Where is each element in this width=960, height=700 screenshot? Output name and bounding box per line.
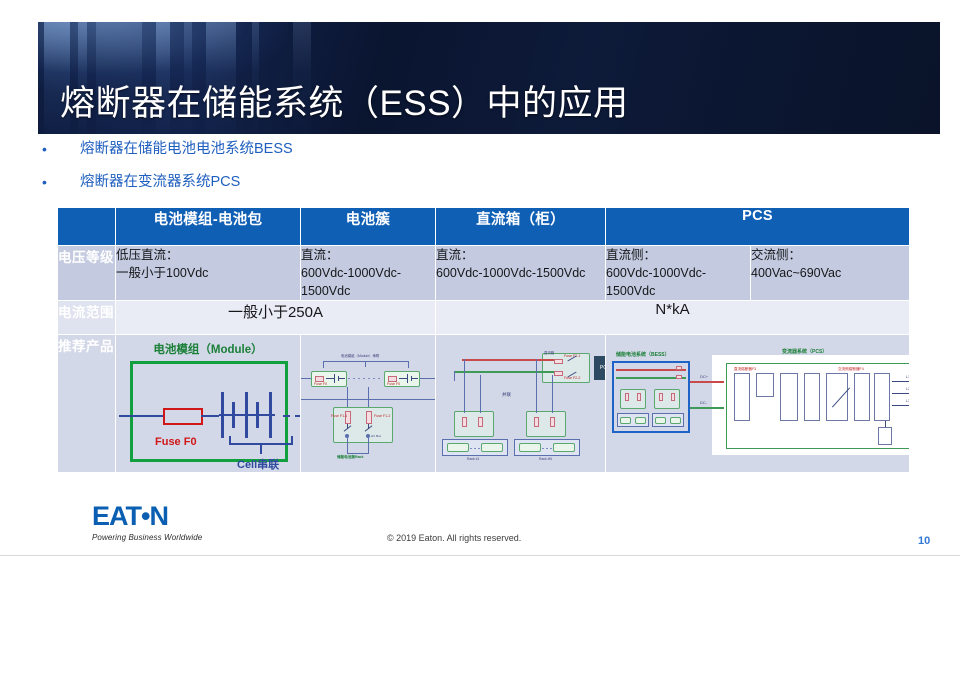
rack-module-box [447, 443, 469, 452]
table-header-row: 电池模组-电池包 电池簇 直流箱（柜） PCS [58, 208, 910, 246]
hv-box-frame [333, 407, 393, 443]
rack-group-1 [454, 411, 494, 437]
rack-riser [480, 375, 481, 413]
eaton-wordmark: EAT•N [92, 503, 232, 530]
cluster-dashed-link [348, 378, 383, 379]
rack-riser [464, 359, 465, 383]
bess-module [620, 417, 631, 424]
dc-plus-label: DC+ [700, 374, 708, 379]
bess-title-label: 储能电池系统（BESS） [616, 351, 670, 358]
pcs-ground-stem [885, 421, 886, 427]
pcs-boundary-dash [726, 363, 729, 449]
diagram-module-title: 电池模组（Module） [153, 341, 262, 357]
diagram-pcs-system: 储能电池系统（BESS） 变流器系统（PCS） [606, 335, 910, 473]
ac-line-l3 [892, 405, 910, 406]
cell-current-power: N*kA [436, 301, 910, 335]
pcs-title-label: 变流器系统（PCS） [782, 348, 827, 355]
slide-canvas: 熔断器在储能系统（ESS）中的应用 • 熔断器在储能电池电池系统BESS • 熔… [0, 0, 960, 700]
cluster-fuse-label: Fuse F0 [387, 382, 400, 386]
cell-voltage-dcbox: 直流：600Vdc-1000Vdc-1500Vdc [436, 246, 606, 301]
fuse-f1-1-label: Fuse F1-1 [331, 414, 347, 418]
title-banner: 熔断器在储能系统（ESS）中的应用 [38, 22, 940, 134]
table-row: 电压等级 低压直流：一般小于100Vdc 直流：600Vdc-1000Vdc-1… [58, 246, 910, 301]
dc-negative-bus [454, 371, 554, 372]
rack-dashed-link [542, 448, 552, 449]
rack-fuse [534, 417, 539, 427]
cluster-brace-leg [323, 361, 324, 368]
module-green-frame: Fuse F0 Cell串联 [130, 361, 288, 462]
bess-rack-fuse [637, 393, 641, 401]
bess-rack-fuse [625, 393, 629, 401]
rack-label-2: Rack #N [539, 457, 552, 461]
rack-riser [536, 383, 537, 413]
fuse-f1-2-label: Fuse F1-2 [374, 414, 390, 418]
eaton-logo: EAT•N Powering Business Worldwide [92, 503, 232, 542]
pcs-ground-block [878, 427, 892, 445]
bess-rack-fuse [671, 393, 675, 401]
rack-dashed-link [470, 448, 480, 449]
fuse-symbol-f1-2 [366, 411, 372, 424]
pcs-ac-reactor [874, 373, 890, 421]
footer-divider [0, 555, 960, 556]
cell-voltage-pcs-ac: 交流侧：400Vac~690Vac [751, 246, 910, 301]
cluster-brace-leg [408, 361, 409, 368]
dc-positive-link [690, 381, 724, 383]
bullet-marker-icon: • [38, 175, 80, 189]
ac-line-l2 [892, 393, 910, 394]
cell-voltage-module: 低压直流：一般小于100Vdc [116, 246, 301, 301]
header-dcbox: 直流箱（柜） [436, 208, 606, 246]
ac-l2-label: L2 [906, 387, 910, 391]
cluster-loop-left [301, 378, 312, 379]
fuse-symbol-f2-2 [554, 371, 563, 376]
rack-module-box [519, 443, 541, 452]
row-label-voltage: 电压等级 [58, 246, 116, 301]
cluster-brace-top [323, 361, 409, 362]
bess-module [670, 417, 681, 424]
fuse-symbol-f0 [163, 408, 203, 425]
bess-module [655, 417, 666, 424]
module-lead-mid [201, 415, 219, 417]
rack-fuse [550, 417, 555, 427]
cluster-bottom-label: 储能电池簇Rack [337, 455, 364, 460]
list-item: • 熔断器在变流器系统PCS [38, 175, 738, 190]
combiner-label: 直流箱 [544, 350, 554, 355]
bullet-marker-icon: • [38, 142, 80, 156]
header-module: 电池模组-电池包 [116, 208, 301, 246]
pcs-dc-link-cap [804, 373, 820, 421]
cluster-out-lead [368, 438, 369, 454]
hv-box-label: HV Box [371, 434, 381, 438]
pcs-ac-filter [854, 373, 870, 421]
rack-label-1: Rack #1 [467, 457, 479, 461]
dc-minus-label: DC- [700, 400, 707, 405]
cluster-cell-plate [407, 374, 408, 383]
bullet-text: 熔断器在储能电池电池系统BESS [80, 142, 293, 157]
pcs-dc-filter [780, 373, 798, 421]
dc-fuse-label: 直流熔断器F3 [734, 367, 756, 372]
list-item: • 熔断器在储能电池电池系统BESS [38, 142, 738, 157]
bess-rack-group [654, 389, 680, 409]
eaton-tagline: Powering Business Worldwide [92, 533, 232, 542]
row-label-product: 推荐产品 [58, 335, 116, 473]
cluster-loop-right [420, 378, 436, 379]
cell-connect-wire [219, 414, 275, 416]
cell-series-label: Cell串联 [237, 456, 279, 472]
header-pcs: PCS [606, 208, 910, 246]
cluster-tap [368, 387, 369, 407]
ac-line-l1 [892, 381, 910, 382]
rack-riser [552, 375, 553, 413]
ac-l3-label: L3 [906, 399, 910, 403]
cluster-brace-stem [365, 361, 366, 367]
ess-spec-table: 电池模组-电池包 电池簇 直流箱（柜） PCS 电压等级 低压直流：一般小于10… [57, 207, 910, 473]
rack-module-box [553, 443, 575, 452]
copyright-text: © 2019 Eaton. All rights reserved. [387, 533, 521, 543]
ac-fuse-label: 交流侧熔断器F4 [838, 367, 864, 372]
rack-module-box [481, 443, 503, 452]
fuse-f0-label: Fuse F0 [155, 436, 197, 448]
table-row: 推荐产品 电池模组（Module） [58, 335, 910, 473]
pcs-dc-breaker [734, 373, 750, 421]
module-lead-left [119, 415, 165, 417]
rack-fuse [462, 417, 467, 427]
page-number: 10 [918, 535, 930, 547]
header-cluster: 电池簇 [301, 208, 436, 246]
fuse-symbol-f2-1 [554, 359, 563, 364]
cluster-wire [326, 378, 334, 379]
rack-group-2 [526, 411, 566, 437]
page-title: 熔断器在储能系统（ESS）中的应用 [60, 75, 629, 126]
cluster-wire [399, 378, 407, 379]
bess-fuse [676, 366, 682, 370]
dc-negative-link [690, 407, 724, 409]
bullet-text: 熔断器在变流器系统PCS [80, 175, 240, 190]
ac-l1-label: L1 [906, 375, 910, 379]
cluster-out-lead [347, 438, 348, 454]
cluster-wire [412, 378, 418, 379]
diagram-battery-module: 电池模组（Module） [116, 335, 301, 473]
module-dashed-link [283, 415, 301, 417]
cluster-title-label: 电池模组（Module）串联 [341, 353, 379, 358]
diagram-dc-box: 直流箱 Fuse F2-1 Fuse F2-2 PCS 并联 [436, 335, 606, 473]
bess-module [635, 417, 646, 424]
cell-series-brace-tick [260, 445, 262, 454]
rack-riser [454, 371, 455, 381]
pcs-precharge [756, 373, 774, 397]
cluster-tap [347, 387, 348, 407]
dcbox-center-label: 并联 [502, 392, 511, 398]
cluster-wire [339, 378, 345, 379]
pcs-block: PCS [594, 356, 606, 380]
pcs-inverter-bridge [826, 373, 848, 421]
rack-riser [536, 359, 537, 383]
bullet-list: • 熔断器在储能电池电池系统BESS • 熔断器在变流器系统PCS [38, 142, 738, 207]
dc-positive-bus [462, 359, 554, 360]
rack-fuse [478, 417, 483, 427]
table-row: 电流范围 一般小于250A N*kA [58, 301, 910, 335]
diagram-battery-cluster: 电池模组（Module）串联 Fuse F0 [301, 335, 436, 473]
header-blank-cell [58, 208, 116, 246]
bess-fuse [676, 375, 682, 379]
cluster-cell-plate [334, 374, 335, 383]
row-label-current: 电流范围 [58, 301, 116, 335]
rack-riser [464, 383, 465, 413]
cell-voltage-pcs-dc: 直流侧：600Vdc-1000Vdc-1500Vdc [606, 246, 751, 301]
cell-voltage-cluster: 直流：600Vdc-1000Vdc-1500Vdc [301, 246, 436, 301]
cell-current-battery: 一般小于250A [116, 301, 436, 335]
bess-rack-group [620, 389, 646, 409]
cell-series-brace [229, 436, 293, 445]
fuse-f2-2-label: Fuse F2-2 [564, 376, 580, 380]
cluster-fuse-label: Fuse F0 [314, 382, 327, 386]
bess-rack-fuse [659, 393, 663, 401]
